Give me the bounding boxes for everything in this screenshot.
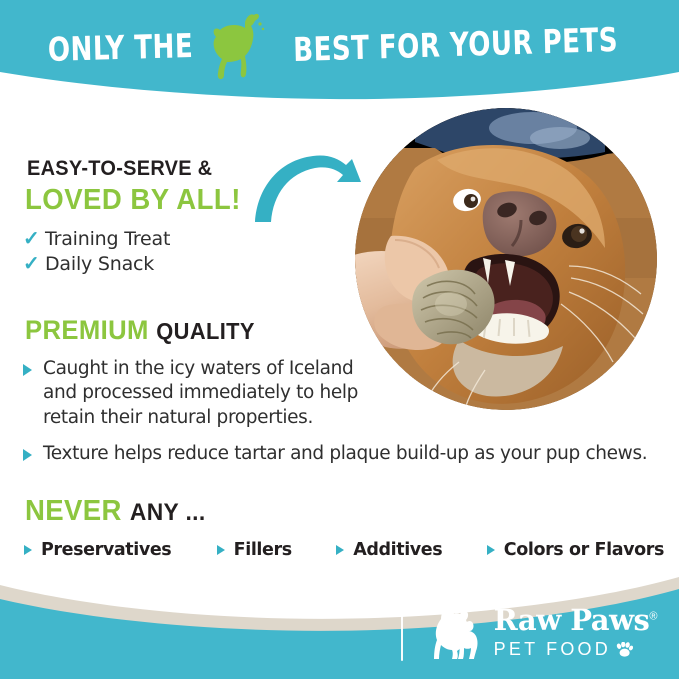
header-banner: ONLY THE BEST FOR YOUR PETS [0, 0, 679, 108]
triangle-bullet-icon [24, 545, 32, 555]
triangle-bullet-icon [487, 545, 495, 555]
footer-banner: Raw Paws® PET FOOD [0, 569, 679, 679]
list-item: Additives [336, 540, 442, 560]
infographic-root: ONLY THE BEST FOR YOUR PETS EASY-TO-SERV… [0, 0, 679, 679]
triangle-bullet-icon [217, 545, 225, 555]
never-any-heading: NEVER ANY ... [25, 495, 206, 528]
never-item-label: Colors or Flavors [504, 540, 664, 560]
header-content: ONLY THE BEST FOR YOUR PETS [0, 0, 679, 92]
list-item: ✓ Daily Snack [23, 253, 323, 275]
list-item: Texture helps reduce tartar and plaque b… [23, 442, 653, 466]
check-item-label: Training Treat [45, 228, 170, 250]
check-icon: ✓ [23, 254, 45, 274]
brand-logo: Raw Paws® PET FOOD [401, 603, 657, 661]
premium-word: PREMIUM [25, 315, 149, 345]
list-item: Colors or Flavors [487, 540, 664, 560]
any-word: ANY ... [130, 499, 206, 526]
brand-tagline: PET FOOD [494, 640, 657, 658]
logo-divider [401, 603, 403, 661]
brand-name: Raw Paws® [494, 606, 657, 635]
list-item: Fillers [217, 540, 292, 560]
list-item: Caught in the icy waters of Iceland and … [23, 357, 653, 430]
registered-mark: ® [649, 610, 657, 622]
dog-and-cat-silhouette-icon [429, 603, 487, 661]
check-list: ✓ Training Treat ✓ Daily Snack [23, 228, 323, 278]
check-item-label: Daily Snack [45, 253, 154, 275]
logo-text: Raw Paws® PET FOOD [494, 606, 657, 658]
header-title-right: BEST FOR YOUR PETS [293, 22, 619, 65]
triangle-bullet-icon [336, 545, 344, 555]
never-item-label: Additives [353, 540, 442, 560]
bullet-text: Texture helps reduce tartar and plaque b… [43, 442, 647, 466]
quality-word: QUALITY [156, 318, 255, 344]
paw-print-icon [616, 642, 633, 657]
list-item: ✓ Training Treat [23, 228, 323, 250]
curved-arrow-icon [253, 148, 371, 224]
premium-quality-heading: PREMIUM QUALITY [25, 315, 255, 346]
dog-silhouette-icon [207, 12, 267, 84]
never-word: NEVER [25, 495, 122, 527]
list-item: Preservatives [24, 540, 171, 560]
brand-tagline-text: PET FOOD [494, 640, 611, 658]
bullet-text: Caught in the icy waters of Iceland and … [43, 357, 373, 430]
easy-to-serve-heading: EASY-TO-SERVE & [27, 157, 212, 181]
header-title-left: ONLY THE [48, 29, 194, 66]
brand-name-text: Raw Paws [494, 603, 650, 637]
never-item-label: Preservatives [41, 540, 171, 560]
premium-bullet-list: Caught in the icy waters of Iceland and … [23, 357, 653, 479]
loved-by-all-heading: LOVED BY ALL! [25, 184, 241, 217]
never-items-row: Preservatives Fillers Additives Colors o… [24, 540, 664, 560]
triangle-bullet-icon [23, 449, 32, 461]
triangle-bullet-icon [23, 364, 32, 376]
never-item-label: Fillers [234, 540, 292, 560]
check-icon: ✓ [23, 229, 45, 249]
